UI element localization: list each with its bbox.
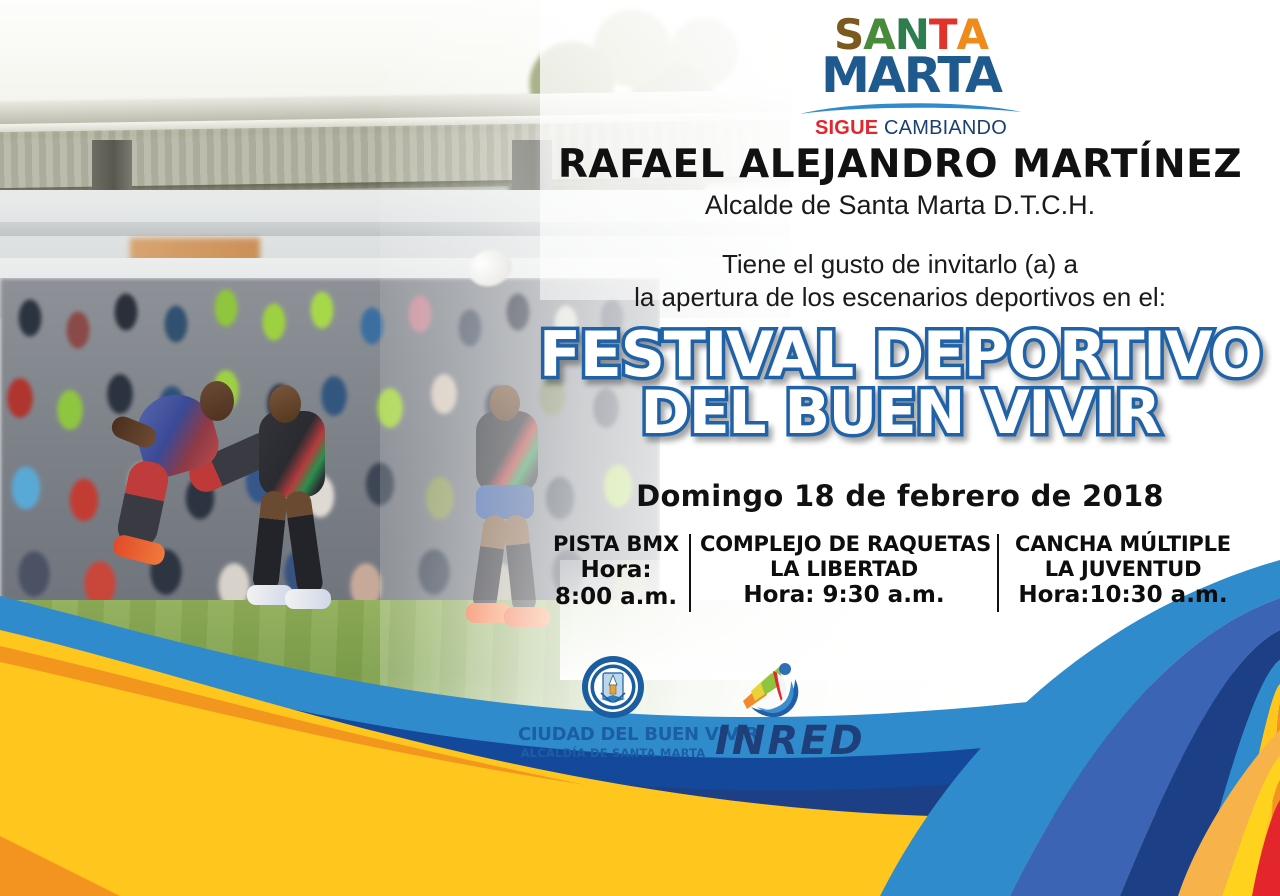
venue-name-line-1: PISTA BMX [552, 532, 680, 557]
event-title-line-2: DEL BUEN VIVIR [520, 384, 1280, 442]
inred-wordmark: INRED [715, 721, 895, 761]
santa-marta-logo: SANTA MARTA SIGUE CAMBIANDO [786, 14, 1036, 138]
mayor-role: Alcalde de Santa Marta D.T.C.H. [520, 190, 1280, 220]
venue-pista-bmx: PISTA BMX Hora: 8:00 a.m. [543, 532, 689, 611]
invitation-line-1: Tiene el gusto de invitarlo (a) a [520, 248, 1280, 281]
venue-time-line-1: Hora: 9:30 a.m. [700, 582, 988, 609]
venue-cancha-multiple-la-juventud: CANCHA MÚLTIPLE LA JUVENTUD Hora:10:30 a… [999, 532, 1247, 609]
city-seal-icon [581, 655, 645, 719]
logo-tagline: SIGUE CAMBIANDO [786, 117, 1036, 139]
inred-logo: INRED [715, 657, 895, 761]
footer-logos: CIUDAD DEL BUEN VIVIR ALCALDÍA DE SANTA … [500, 655, 900, 770]
logo-word-marta: MARTA [786, 52, 1036, 100]
tagline-cambiando: CAMBIANDO [884, 117, 1007, 139]
venue-complejo-raquetas-la-libertad: COMPLEJO DE RAQUETAS LA LIBERTAD Hora: 9… [691, 532, 997, 609]
city-hall-logo: CIUDAD DEL BUEN VIVIR ALCALDÍA DE SANTA … [518, 655, 708, 760]
venue-name-line-1: CANCHA MÚLTIPLE [1008, 532, 1238, 557]
city-logo-title: CIUDAD DEL BUEN VIVIR [518, 724, 708, 745]
venue-name-line-2: LA JUVENTUD [1008, 557, 1238, 582]
poster-canvas: SANTA MARTA SIGUE CAMBIANDO RAFAEL ALEJA… [0, 0, 1280, 896]
venue-time-line-1: Hora:10:30 a.m. [1008, 582, 1238, 609]
venue-name-line-2: LA LIBERTAD [700, 557, 988, 582]
venue-time-line-1: Hora: [552, 557, 680, 584]
tagline-sigue: SIGUE [815, 117, 878, 139]
event-title: FESTIVAL DEPORTIVO DEL BUEN VIVIR [520, 326, 1280, 442]
inred-mark-icon [733, 657, 805, 725]
event-title-line-1: FESTIVAL DEPORTIVO [520, 326, 1280, 384]
logo-arc-swoosh [796, 99, 1026, 115]
venue-time-line-2: 8:00 a.m. [552, 584, 680, 611]
invitation-line-2: la apertura de los escenarios deportivos… [520, 281, 1280, 314]
mayor-name: RAFAEL ALEJANDRO MARTÍNEZ [520, 144, 1280, 186]
venue-name-line-1: COMPLEJO DE RAQUETAS [700, 532, 988, 557]
city-logo-subtitle: ALCALDÍA DE SANTA MARTA [518, 746, 708, 760]
venue-schedule-row: PISTA BMX Hora: 8:00 a.m. COMPLEJO DE RA… [540, 532, 1250, 618]
event-date: Domingo 18 de febrero de 2018 [520, 480, 1280, 512]
invitation-text: Tiene el gusto de invitarlo (a) a la ape… [520, 248, 1280, 314]
